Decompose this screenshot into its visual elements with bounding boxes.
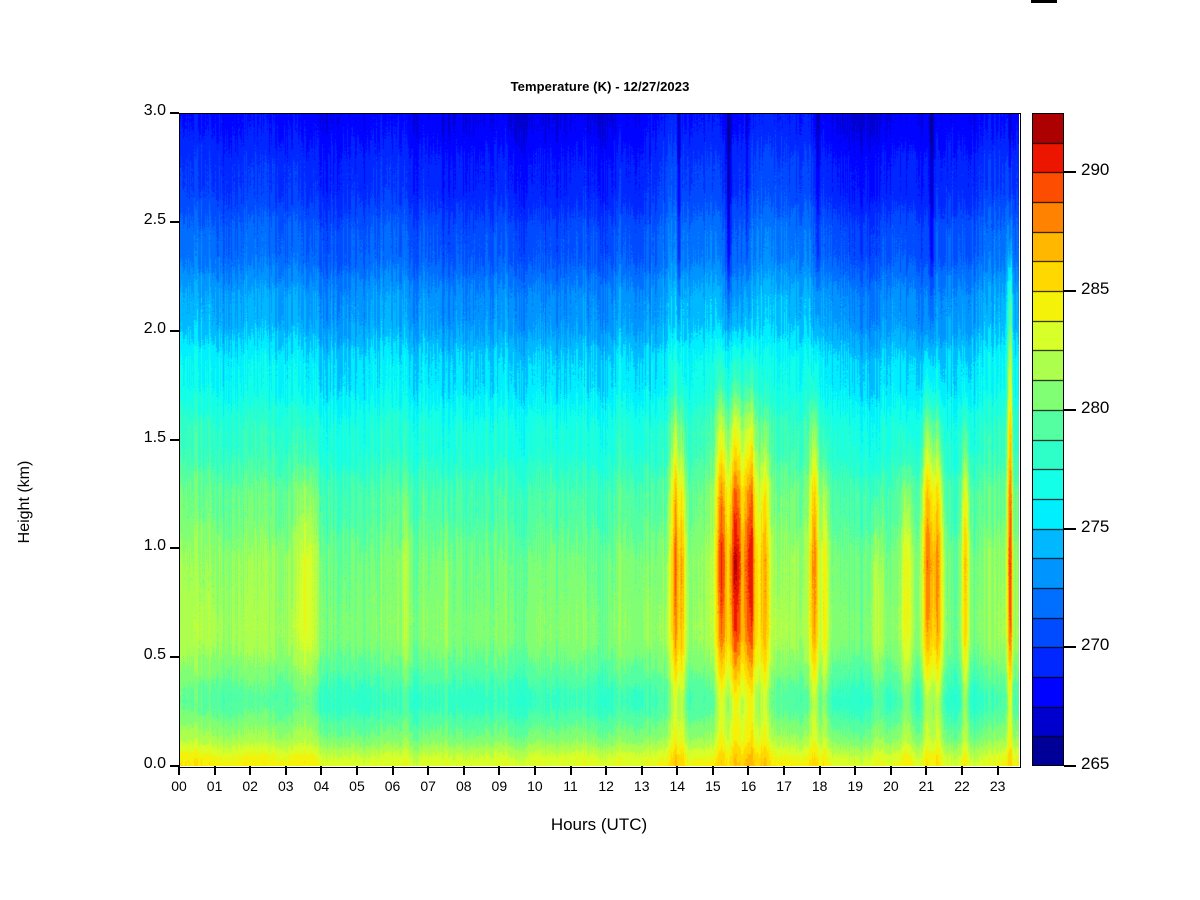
figure-root: Temperature (K) - 12/27/2023 Height (km)… [0, 0, 1200, 900]
x-axis-title: Hours (UTC) [179, 815, 1019, 835]
x-tick-mark [961, 766, 963, 775]
colorbar-tick-label: 290 [1081, 160, 1109, 180]
colorbar-tick-mark [1064, 290, 1076, 292]
x-tick-mark [392, 766, 394, 775]
colorbar-tick-mark [1064, 171, 1076, 173]
x-tick-label: 01 [204, 778, 226, 794]
y-tick-label: 2.5 [144, 211, 166, 229]
x-tick-mark [783, 766, 785, 775]
colorbar-tick-label: 280 [1081, 398, 1109, 418]
x-tick-label: 04 [310, 778, 332, 794]
colorbar-tick-mark [1064, 409, 1076, 411]
x-tick-label: 02 [239, 778, 261, 794]
x-tick-label: 23 [987, 778, 1009, 794]
x-tick-label: 19 [844, 778, 866, 794]
colorbar-tick-label: 285 [1081, 279, 1109, 299]
x-tick-mark [925, 766, 927, 775]
x-tick-mark [178, 766, 180, 775]
x-tick-label: 11 [560, 778, 582, 794]
x-tick-mark [712, 766, 714, 775]
x-tick-mark [498, 766, 500, 775]
x-tick-mark [605, 766, 607, 775]
y-tick-mark [170, 547, 179, 549]
colorbar-tick-mark [1064, 765, 1076, 767]
x-tick-label: 10 [524, 778, 546, 794]
x-tick-mark [890, 766, 892, 775]
x-tick-mark [997, 766, 999, 775]
x-tick-label: 18 [809, 778, 831, 794]
x-tick-mark [427, 766, 429, 775]
y-tick-label: 3.0 [144, 102, 166, 120]
x-tick-label: 14 [666, 778, 688, 794]
y-tick-mark [170, 330, 179, 332]
x-tick-mark [747, 766, 749, 775]
x-tick-label: 06 [382, 778, 404, 794]
x-tick-mark [320, 766, 322, 775]
colorbar-tick-label: 265 [1081, 754, 1109, 774]
x-tick-label: 09 [488, 778, 510, 794]
heatmap-plot [179, 113, 1019, 766]
colorbar-tick-mark [1064, 528, 1076, 530]
x-tick-label: 07 [417, 778, 439, 794]
y-tick-label: 1.5 [144, 429, 166, 447]
x-tick-label: 21 [915, 778, 937, 794]
top-edge-bar [1031, 0, 1057, 3]
colorbar-tick-label: 275 [1081, 517, 1109, 537]
y-tick-mark [170, 656, 179, 658]
x-tick-label: 08 [453, 778, 475, 794]
x-tick-label: 17 [773, 778, 795, 794]
colorbar-tick-label: 270 [1081, 635, 1109, 655]
colorbar-tick-mark [1064, 646, 1076, 648]
x-tick-label: 13 [631, 778, 653, 794]
y-tick-label: 2.0 [144, 320, 166, 338]
x-tick-mark [214, 766, 216, 775]
y-tick-mark [170, 439, 179, 441]
x-tick-label: 15 [702, 778, 724, 794]
x-tick-label: 12 [595, 778, 617, 794]
x-tick-mark [570, 766, 572, 775]
x-tick-mark [819, 766, 821, 775]
x-tick-mark [356, 766, 358, 775]
x-tick-mark [534, 766, 536, 775]
y-axis-title: Height (km) [16, 417, 34, 587]
x-tick-mark [463, 766, 465, 775]
x-tick-mark [641, 766, 643, 775]
x-tick-mark [854, 766, 856, 775]
y-tick-label: 0.5 [144, 646, 166, 664]
y-tick-mark [170, 221, 179, 223]
colorbar: 265270275280285290 [1032, 113, 1192, 766]
x-tick-mark [249, 766, 251, 775]
colorbar-gradient [1032, 113, 1064, 766]
x-tick-label: 16 [737, 778, 759, 794]
x-tick-mark [285, 766, 287, 775]
x-tick-label: 00 [168, 778, 190, 794]
y-tick-label: 0.0 [144, 755, 166, 773]
page-title: Temperature (K) - 12/27/2023 [0, 79, 1200, 94]
x-tick-mark [676, 766, 678, 775]
y-axis: Height (km) 0.00.51.01.52.02.53.0 [0, 113, 179, 766]
x-tick-label: 05 [346, 778, 368, 794]
y-tick-mark [170, 112, 179, 114]
y-tick-label: 1.0 [144, 537, 166, 555]
x-tick-label: 20 [880, 778, 902, 794]
x-tick-label: 22 [951, 778, 973, 794]
x-tick-label: 03 [275, 778, 297, 794]
